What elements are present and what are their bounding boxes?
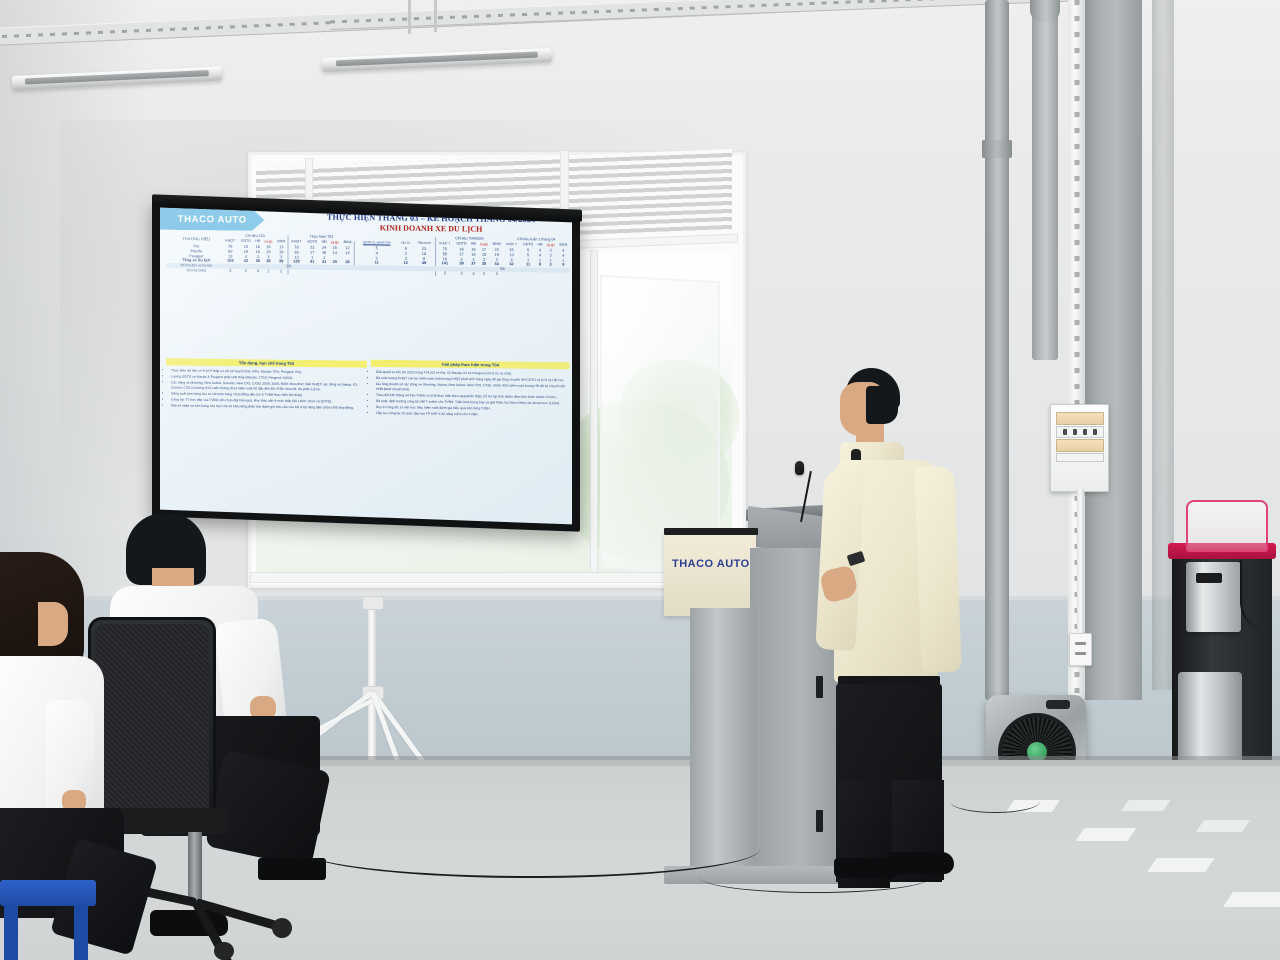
microphone-head[interactable] — [795, 461, 804, 475]
floor-cable-secondary — [700, 862, 930, 893]
left-panel-header-text: Tồn đọng, hạn chế trong T03 — [239, 360, 294, 366]
stool-leg-right — [74, 904, 88, 960]
slide-content: THACO AUTO THỰC HIỆN THÁNG 03 – KẾ HOẠCH… — [160, 208, 572, 516]
kettle-label — [1196, 573, 1222, 583]
right-panel-header-text: Giải pháp thực hiện trong T04 — [442, 362, 499, 368]
pvc-pipe-right — [1032, 0, 1058, 360]
thaco-auto-logo-banner: THACO AUTO — [160, 208, 264, 231]
electrical-panel[interactable] — [1050, 404, 1109, 492]
light-hanger-a — [408, 0, 411, 34]
podium-logo: THACO AUTO — [672, 558, 750, 570]
blue-plastic-stool[interactable] — [0, 880, 96, 906]
structural-column-far-right — [1152, 0, 1174, 690]
floor-marking-dash — [1223, 892, 1280, 907]
office-chair-backrest[interactable] — [88, 617, 216, 823]
breaker-switch-3[interactable] — [1083, 429, 1087, 435]
podium-left-wing — [664, 532, 756, 616]
thaco-auto-logo-text: THACO AUTO — [178, 213, 247, 225]
cell: 3 — [223, 268, 238, 273]
stool-leg-left — [4, 904, 18, 960]
office-chair-mesh — [95, 624, 209, 816]
pvc-pipe-left — [985, 0, 1009, 700]
office-chair-caster-a — [272, 918, 292, 938]
window-mullion-vertical-c — [590, 250, 598, 577]
cell: 3 — [469, 271, 477, 276]
floor-marking-dash — [1196, 820, 1250, 832]
list-item: Một số nhân sự bán hàng còn hạn chế về k… — [171, 403, 365, 410]
slide-data-table: THƯƠNG HIỆU Chỉ tiêu T03 Thực hiện T03 C… — [166, 234, 570, 278]
panel-breaker-row-bottom — [1056, 439, 1104, 452]
cell: 3 — [254, 269, 262, 274]
extra-row-label-2: Số máy Dũng — [166, 268, 222, 274]
podium-hinge-top — [816, 676, 823, 698]
breaker-switch-4[interactable] — [1093, 429, 1097, 435]
tripod-hub-top — [362, 596, 384, 610]
floor-marking-dash — [1147, 858, 1214, 872]
fan-control-knob[interactable] — [1046, 700, 1070, 709]
panel-switch-row-2[interactable] — [1056, 453, 1104, 462]
cell: 2 — [275, 269, 288, 274]
wall-left-shading — [0, 0, 150, 600]
light-hanger-b — [434, 0, 437, 32]
cell: 2 — [477, 272, 490, 277]
breaker-switch-2[interactable] — [1073, 429, 1077, 435]
list-item: Tiếp tục công tác tổ chức đào tạo TP KHP… — [376, 411, 570, 418]
breaker-switch-1[interactable] — [1063, 429, 1067, 435]
floor-marking-dash — [1121, 800, 1170, 811]
cell: 3 — [491, 272, 503, 277]
left-panel-bullets: Thực hiện chỉ tiêu xe K-M-P thấp so với … — [166, 368, 365, 411]
projector-screen-surface: THACO AUTO THỰC HIỆN THÁNG 03 – KẾ HOẠCH… — [160, 208, 572, 525]
pvc-pipe-joint — [982, 140, 1012, 158]
floor-marking-dash — [1076, 828, 1137, 841]
cell: 3 — [435, 271, 453, 276]
audience-1-shoe — [258, 858, 326, 880]
conduit-pipe — [1077, 488, 1084, 638]
wall-power-outlet[interactable] — [1069, 633, 1092, 666]
presenter-sideburn — [866, 386, 898, 424]
office-chair-gas-cylinder — [188, 832, 202, 904]
pipe-elbow-top — [1030, 0, 1060, 22]
right-panel-bullets: Giải quyết xe tồn SX 2023 trong T04 (03 … — [371, 370, 570, 419]
cell: 3 — [454, 271, 470, 276]
cell: 1 — [262, 269, 275, 274]
presenter-right-arm — [914, 465, 961, 672]
panel-breaker-row-top — [1056, 412, 1104, 425]
panel-switch-row[interactable] — [1056, 426, 1104, 438]
left-panel-header: Tồn đọng, hạn chế trong T03 — [166, 358, 367, 367]
audience-2-face — [38, 602, 68, 646]
office-chair-caster-c — [214, 942, 234, 960]
list-item: Gia tăng doanh số các dòng xe: Morning, … — [376, 382, 570, 393]
cell: 2 — [238, 269, 254, 274]
podium-shelf-edge — [664, 528, 758, 535]
structural-column-right — [1084, 0, 1142, 700]
outlet-slot-a — [1075, 642, 1086, 645]
water-dispenser-cover[interactable] — [1186, 500, 1268, 552]
outlet-slot-b — [1075, 652, 1086, 655]
list-item: Các dòng xe Morning, New Seltos, Sorento… — [171, 381, 365, 392]
presentation-room-scene: THACO AUTO THỰC HIỆN THÁNG 03 – KẾ HOẠCH… — [0, 0, 1280, 960]
floor-cable-to-fan — [950, 790, 1040, 813]
right-panel-header: Giải pháp thực hiện trong T04 — [371, 360, 570, 369]
floor-cable-main — [300, 820, 760, 878]
podium-hinge-bottom — [816, 810, 823, 832]
